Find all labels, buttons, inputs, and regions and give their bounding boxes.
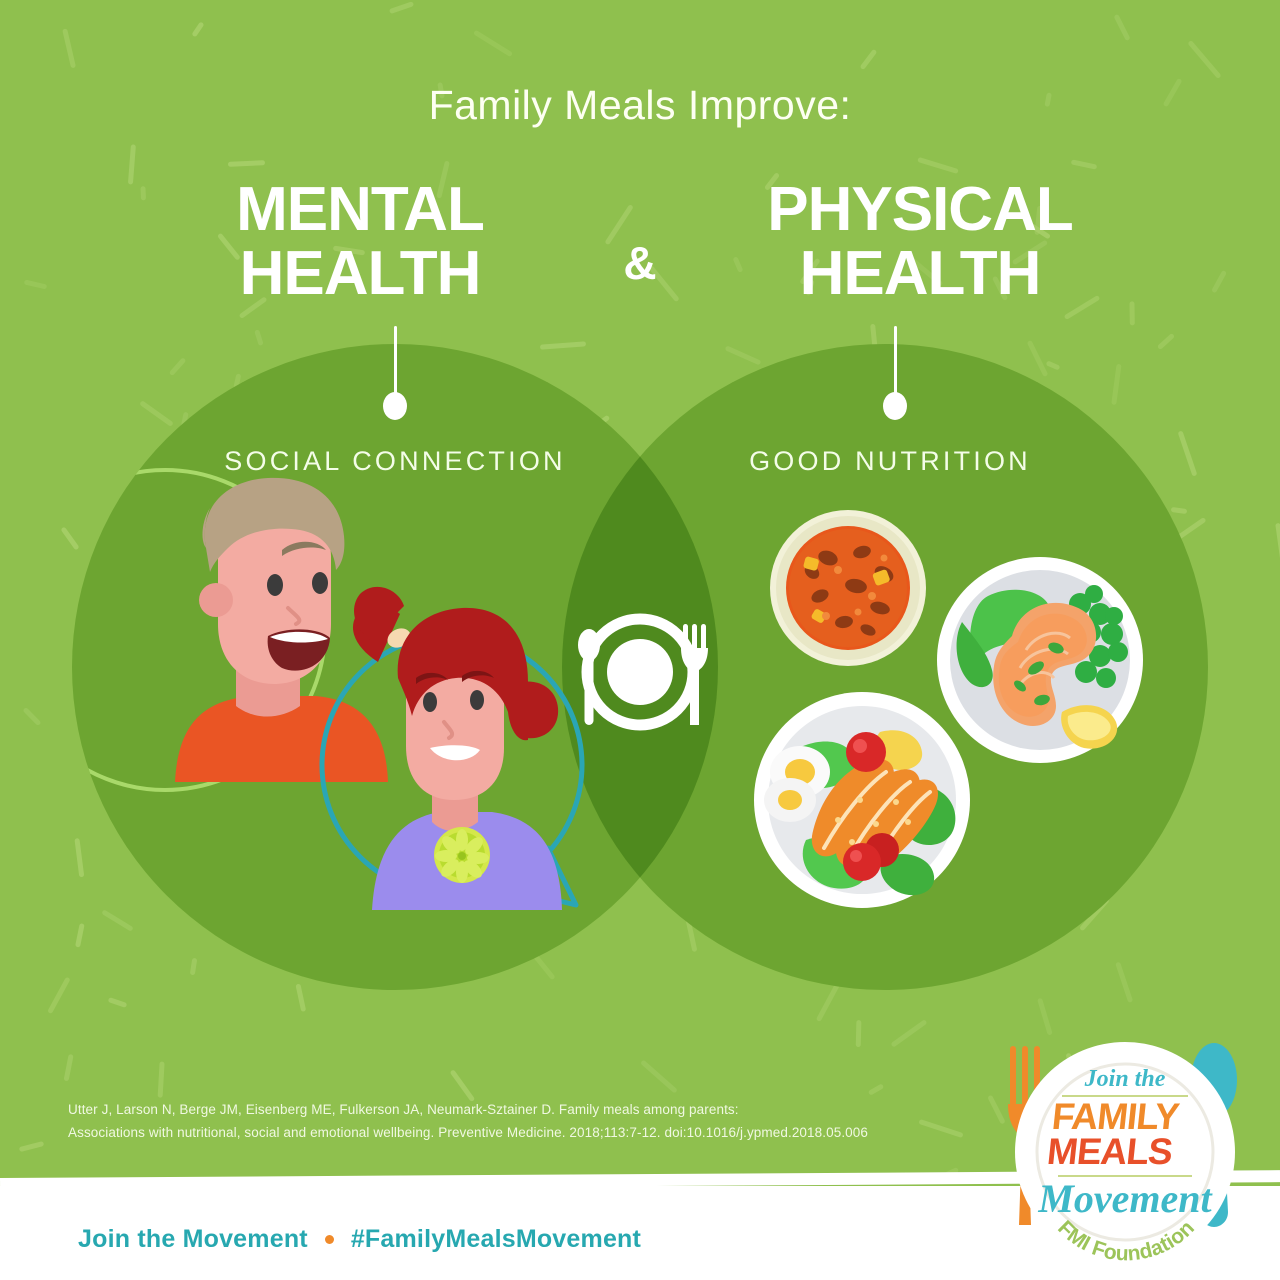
bowl-of-chili — [770, 510, 926, 666]
connector-dot-right — [883, 392, 907, 420]
join-the-movement-link[interactable]: Join the Movement — [78, 1225, 308, 1254]
heading-mental-line2: HEALTH — [125, 242, 595, 306]
heading-physical-health: PHYSICAL HEALTH — [685, 178, 1155, 306]
heading-physical-line2: HEALTH — [685, 242, 1155, 306]
footer-separator-dot — [325, 1235, 334, 1244]
infographic-poster: Family Meals Improve: MENTAL HEALTH & PH… — [0, 0, 1280, 1280]
connector-dot-left — [383, 392, 407, 420]
footer-text: Join the Movement #FamilyMealsMovement — [78, 1225, 641, 1254]
citation-line-2: Associations with nutritional, social an… — [68, 1121, 948, 1144]
headings-row: MENTAL HEALTH & PHYSICAL HEALTH — [0, 178, 1280, 306]
chicken-salad-plate — [754, 692, 970, 908]
logo-word-meals: MEALS — [1045, 1130, 1174, 1172]
family-meals-movement-logo[interactable]: Join the FAMILY MEALS Movement FMI Found… — [996, 1024, 1264, 1274]
logo-script-top: Join the — [1084, 1066, 1166, 1092]
hashtag-link[interactable]: #FamilyMealsMovement — [351, 1225, 641, 1254]
citation: Utter J, Larson N, Berge JM, Eisenberg M… — [68, 1098, 948, 1144]
heading-mental-line1: MENTAL — [125, 178, 595, 242]
page-title: Family Meals Improve: — [0, 82, 1280, 129]
ampersand: & — [595, 194, 685, 290]
venn-label-good-nutrition: GOOD NUTRITION — [610, 446, 1170, 477]
heading-mental-health: MENTAL HEALTH — [125, 178, 595, 306]
venn-label-social-connection: SOCIAL CONNECTION — [95, 446, 695, 477]
citation-line-1: Utter J, Larson N, Berge JM, Eisenberg M… — [68, 1098, 948, 1121]
logo-script-movement: Movement — [1037, 1176, 1213, 1221]
salmon-plate — [937, 557, 1143, 763]
heading-physical-line1: PHYSICAL — [685, 178, 1155, 242]
